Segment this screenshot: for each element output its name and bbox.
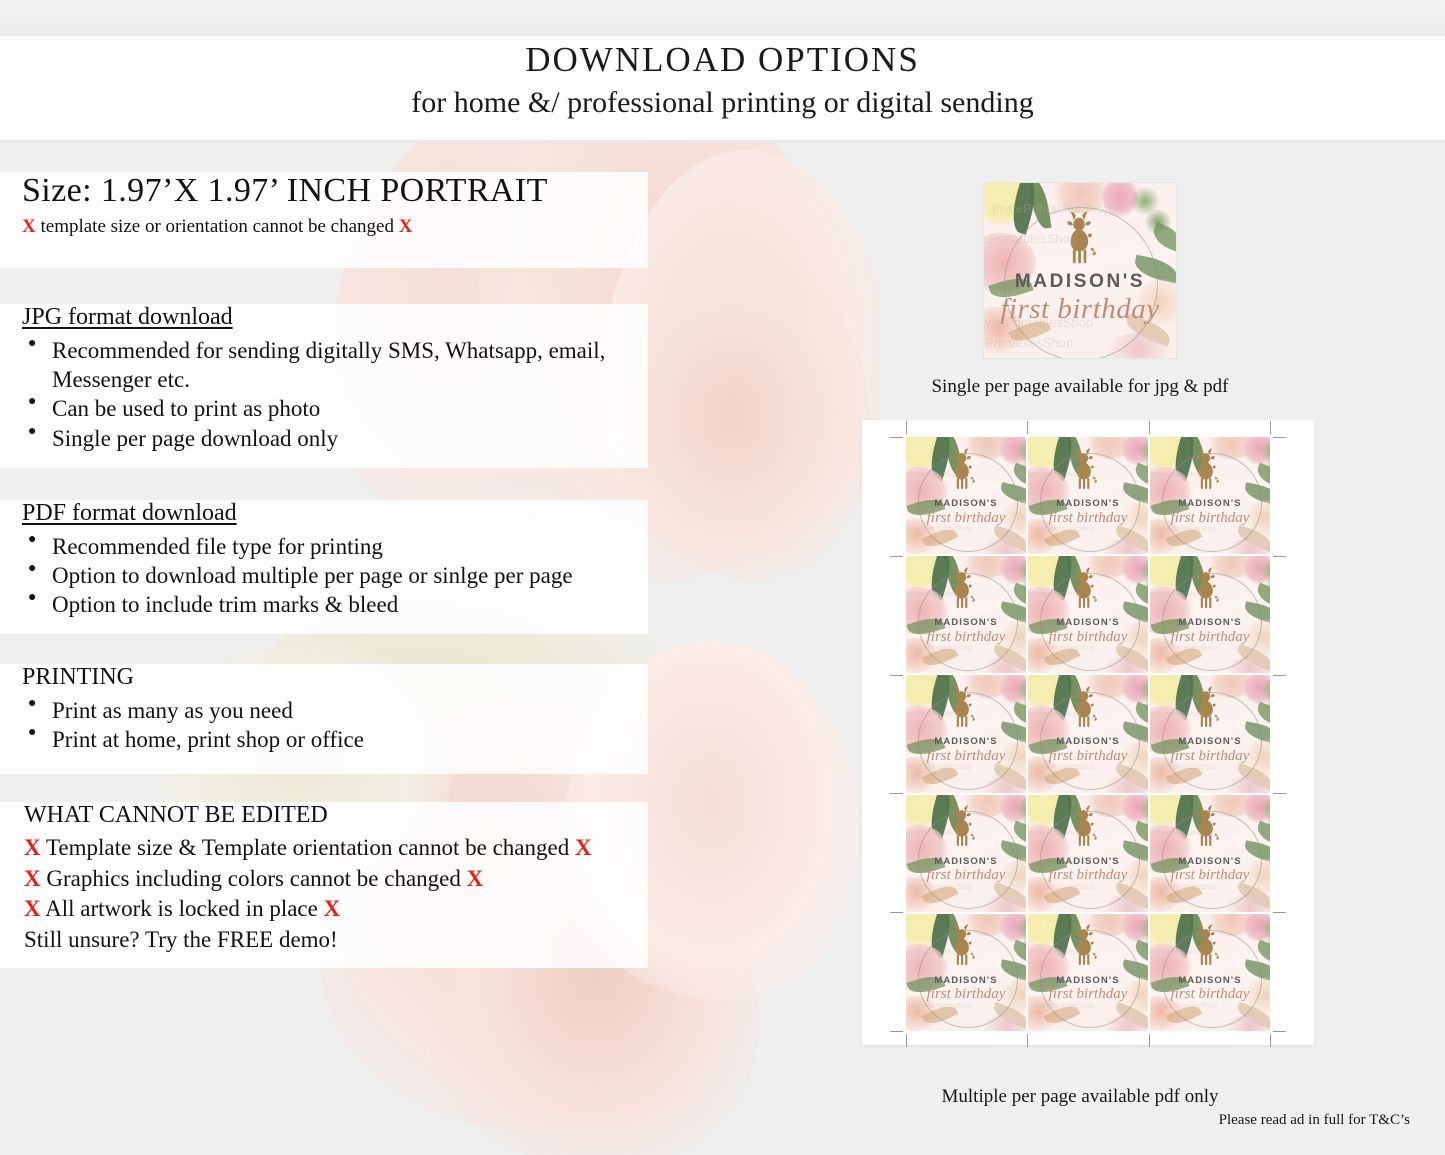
x-mark-icon: X [22, 216, 36, 237]
tag-artwork: MADISON'Sfirst birthdayInvitePrintablesS… [1028, 675, 1148, 792]
tag-grid-cell: MADISON'Sfirst birthdayInvitePrintablesS… [1150, 914, 1270, 1031]
tag-script-line: first birthday [906, 986, 1026, 1003]
trim-mark [890, 437, 903, 438]
deer-icon [1184, 686, 1227, 728]
deer-icon [940, 924, 983, 966]
tag-script-line: first birthday [906, 629, 1026, 646]
deer-icon [1062, 567, 1105, 609]
butterfly-icon [1214, 953, 1218, 959]
tag-name-line: MADISON'S [906, 856, 1026, 867]
terms-note: Please read ad in full for T&C’s [1040, 1112, 1410, 1129]
tag-grid-cell: MADISON'Sfirst birthdayInvitePrintablesS… [1150, 795, 1270, 912]
single-tag-preview[interactable]: MADISON'S first birthday InvitePrintable… [984, 183, 1176, 358]
deer-icon [1056, 211, 1102, 265]
tag-script-line: first birthday [1150, 748, 1270, 765]
cannot-edit-line: X Graphics including colors cannot be ch… [24, 864, 648, 895]
multi-preview-caption: Multiple per page available pdf only [860, 1086, 1300, 1108]
cannot-edit-closing: Still unsure? Try the FREE demo! [24, 925, 648, 956]
tag-script-line: first birthday [984, 293, 1176, 326]
tag-artwork: MADISON'Sfirst birthdayInvitePrintablesS… [906, 675, 1026, 792]
butterfly-icon [1092, 596, 1096, 602]
x-mark-icon: X [467, 866, 484, 891]
trim-mark [1027, 1034, 1028, 1047]
tag-artwork: MADISON'Sfirst birthdayInvitePrintablesS… [1028, 914, 1148, 1031]
tag-script-line: first birthday [1028, 510, 1148, 527]
size-panel: Size: 1.97’X 1.97’ INCH PORTRAIT X templ… [0, 172, 648, 268]
trim-mark [1273, 675, 1286, 676]
deer-icon [1184, 805, 1227, 847]
tag-artwork: MADISON'Sfirst birthdayInvitePrintablesS… [1028, 556, 1148, 673]
list-item: Can be used to print as photo [22, 394, 648, 423]
tag-grid-cell: MADISON'Sfirst birthdayInvitePrintablesS… [1150, 675, 1270, 792]
trim-mark [1273, 912, 1286, 913]
cannot-edit-panel: WHAT CANNOT BE EDITED X Template size & … [0, 802, 648, 968]
tag-artwork: MADISON'Sfirst birthdayInvitePrintablesS… [1028, 795, 1148, 912]
trim-mark [1027, 421, 1028, 434]
deer-icon [1062, 448, 1105, 490]
tag-name-line: MADISON'S [1150, 975, 1270, 986]
cannot-edit-line: X Template size & Template orientation c… [24, 833, 648, 864]
tag-script-line: first birthday [1028, 986, 1148, 1003]
butterfly-icon [1214, 715, 1218, 721]
size-note: X template size or orientation cannot be… [22, 216, 648, 238]
deer-icon [1062, 805, 1105, 847]
deer-icon [940, 567, 983, 609]
tag-script-line: first birthday [906, 510, 1026, 527]
single-preview-caption: Single per page available for jpg & pdf [860, 376, 1300, 398]
header-divider [0, 140, 1445, 143]
x-mark-icon: X [24, 866, 41, 891]
tag-artwork: MADISON'Sfirst birthdayInvitePrintablesS… [906, 795, 1026, 912]
tag-artwork: MADISON'Sfirst birthdayInvitePrintablesS… [1150, 795, 1270, 912]
trim-mark [890, 675, 903, 676]
tag-grid-cell: MADISON'Sfirst birthdayInvitePrintablesS… [1028, 675, 1148, 792]
pdf-panel: PDF format download Recommended file typ… [0, 500, 648, 634]
tag-artwork: MADISON'Sfirst birthdayInvitePrintablesS… [906, 437, 1026, 554]
cannot-edit-line: X All artwork is locked in place X [24, 894, 648, 925]
tag-grid-cell: MADISON'Sfirst birthdayInvitePrintablesS… [1150, 437, 1270, 554]
deer-icon [1184, 567, 1227, 609]
tag-name-line: MADISON'S [906, 736, 1026, 747]
tag-script-line: first birthday [906, 748, 1026, 765]
tag-script-line: first birthday [1028, 629, 1148, 646]
deer-icon [940, 686, 983, 728]
cannot-edit-text: Template size & Template orientation can… [46, 835, 569, 860]
list-item: Print as many as you need [22, 696, 648, 725]
size-note-text: template size or orientation cannot be c… [40, 216, 393, 237]
butterfly-icon [1214, 834, 1218, 840]
tag-script-line: first birthday [1150, 510, 1270, 527]
butterfly-icon [1092, 715, 1096, 721]
tag-script-line: first birthday [1028, 867, 1148, 884]
tag-name-line: MADISON'S [1028, 856, 1148, 867]
tag-artwork: MADISON'S first birthday InvitePrintable… [984, 183, 1176, 358]
list-item: Recommended file type for printing [22, 532, 648, 561]
tag-grid-cell: MADISON'Sfirst birthdayInvitePrintablesS… [906, 795, 1026, 912]
tag-script-line: first birthday [906, 867, 1026, 884]
cannot-edit-heading: WHAT CANNOT BE EDITED [24, 802, 648, 829]
tag-grid-cell: MADISON'Sfirst birthdayInvitePrintablesS… [1150, 556, 1270, 673]
deer-icon [1184, 448, 1227, 490]
jpg-bullet-list: Recommended for sending digitally SMS, W… [22, 336, 648, 453]
pdf-heading: PDF format download [22, 500, 648, 527]
x-mark-icon: X [24, 896, 41, 921]
trim-mark [906, 1034, 907, 1047]
tag-artwork: MADISON'Sfirst birthdayInvitePrintablesS… [906, 556, 1026, 673]
x-mark-icon: X [324, 896, 341, 921]
tag-name-line: MADISON'S [1028, 736, 1148, 747]
tag-artwork: MADISON'Sfirst birthdayInvitePrintablesS… [1028, 437, 1148, 554]
poster-canvas: DOWNLOAD OPTIONS for home &/ professiona… [0, 0, 1445, 1155]
tag-grid-cell: MADISON'Sfirst birthdayInvitePrintablesS… [906, 914, 1026, 1031]
butterfly-icon [1092, 953, 1096, 959]
tag-grid-cell: MADISON'Sfirst birthdayInvitePrintablesS… [1028, 795, 1148, 912]
tag-name-line: MADISON'S [1150, 856, 1270, 867]
butterfly-icon [1214, 596, 1218, 602]
list-item: Messenger etc. [22, 365, 648, 394]
tag-artwork: MADISON'Sfirst birthdayInvitePrintablesS… [1150, 675, 1270, 792]
tag-grid-cell: MADISON'Sfirst birthdayInvitePrintablesS… [1028, 437, 1148, 554]
butterfly-icon [970, 834, 974, 840]
cannot-edit-text: Graphics including colors cannot be chan… [46, 866, 461, 891]
butterfly-icon [1214, 476, 1218, 482]
trim-mark [1149, 1034, 1150, 1047]
top-strip [0, 0, 1445, 36]
trim-mark [1273, 437, 1286, 438]
butterfly-icon [1091, 248, 1096, 256]
tag-name-line: MADISON'S [906, 975, 1026, 986]
cannot-edit-text: All artwork is locked in place [45, 896, 318, 921]
x-mark-icon: X [575, 835, 592, 860]
butterfly-icon [970, 596, 974, 602]
trim-mark [890, 793, 903, 794]
tag-script-line: first birthday [1150, 986, 1270, 1003]
tag-name-line: MADISON'S [984, 271, 1176, 293]
tag-artwork: MADISON'Sfirst birthdayInvitePrintablesS… [1150, 437, 1270, 554]
trim-mark [890, 556, 903, 557]
trim-mark [1273, 1031, 1286, 1032]
list-item: Option to include trim marks & bleed [22, 590, 648, 619]
butterfly-icon [970, 715, 974, 721]
trim-mark [1270, 421, 1271, 434]
printing-heading: PRINTING [22, 664, 648, 691]
tag-name-line: MADISON'S [906, 617, 1026, 628]
deer-icon [1062, 686, 1105, 728]
tag-artwork: MADISON'Sfirst birthdayInvitePrintablesS… [1150, 914, 1270, 1031]
tag-script-line: first birthday [1028, 748, 1148, 765]
printing-bullet-list: Print as many as you need Print at home,… [22, 696, 648, 754]
trim-mark [1149, 421, 1150, 434]
tag-grid-cell: MADISON'Sfirst birthdayInvitePrintablesS… [906, 556, 1026, 673]
pdf-bullet-list: Recommended file type for printing Optio… [22, 532, 648, 620]
deer-icon [940, 448, 983, 490]
tag-name-line: MADISON'S [1150, 617, 1270, 628]
tag-grid-cell: MADISON'Sfirst birthdayInvitePrintablesS… [1028, 556, 1148, 673]
butterfly-icon [970, 476, 974, 482]
trim-mark [1273, 793, 1286, 794]
tag-name-line: MADISON'S [1028, 617, 1148, 628]
tag-name-line: MADISON'S [1150, 498, 1270, 509]
page-subtitle: for home &/ professional printing or dig… [0, 86, 1445, 120]
trim-mark [890, 1031, 903, 1032]
jpg-heading: JPG format download [22, 304, 648, 331]
list-item: Print at home, print shop or office [22, 725, 648, 754]
list-item: Recommended for sending digitally SMS, W… [22, 336, 648, 365]
deer-icon [1184, 924, 1227, 966]
tag-script-line: first birthday [1150, 629, 1270, 646]
printing-panel: PRINTING Print as many as you need Print… [0, 664, 648, 774]
tag-artwork: MADISON'Sfirst birthdayInvitePrintablesS… [906, 914, 1026, 1031]
x-mark-icon: X [399, 216, 413, 237]
list-item: Option to download multiple per page or … [22, 561, 648, 590]
tag-name-line: MADISON'S [1150, 736, 1270, 747]
tag-name-line: MADISON'S [1028, 975, 1148, 986]
trim-mark [1270, 1034, 1271, 1047]
tag-grid-cell: MADISON'Sfirst birthdayInvitePrintablesS… [906, 437, 1026, 554]
butterfly-icon [1092, 476, 1096, 482]
tag-name-line: MADISON'S [906, 498, 1026, 509]
deer-icon [1062, 924, 1105, 966]
deer-icon [940, 805, 983, 847]
multi-page-sheet[interactable]: MADISON'Sfirst birthdayInvitePrintablesS… [862, 420, 1314, 1045]
butterfly-icon [970, 953, 974, 959]
tag-name-line: MADISON'S [1028, 498, 1148, 509]
tag-script-line: first birthday [1150, 867, 1270, 884]
jpg-panel: JPG format download Recommended for send… [0, 304, 648, 468]
trim-mark [890, 912, 903, 913]
butterfly-icon [1092, 834, 1096, 840]
tag-artwork: MADISON'Sfirst birthdayInvitePrintablesS… [1150, 556, 1270, 673]
trim-mark [906, 421, 907, 434]
tag-grid: MADISON'Sfirst birthdayInvitePrintablesS… [906, 437, 1270, 1031]
size-title: Size: 1.97’X 1.97’ INCH PORTRAIT [22, 172, 648, 210]
tag-grid-cell: MADISON'Sfirst birthdayInvitePrintablesS… [906, 675, 1026, 792]
page-title: DOWNLOAD OPTIONS [0, 40, 1445, 80]
list-item: Single per page download only [22, 424, 648, 453]
trim-mark [1273, 556, 1286, 557]
page-header: DOWNLOAD OPTIONS for home &/ professiona… [0, 40, 1445, 120]
tag-grid-cell: MADISON'Sfirst birthdayInvitePrintablesS… [1028, 914, 1148, 1031]
x-mark-icon: X [24, 835, 41, 860]
